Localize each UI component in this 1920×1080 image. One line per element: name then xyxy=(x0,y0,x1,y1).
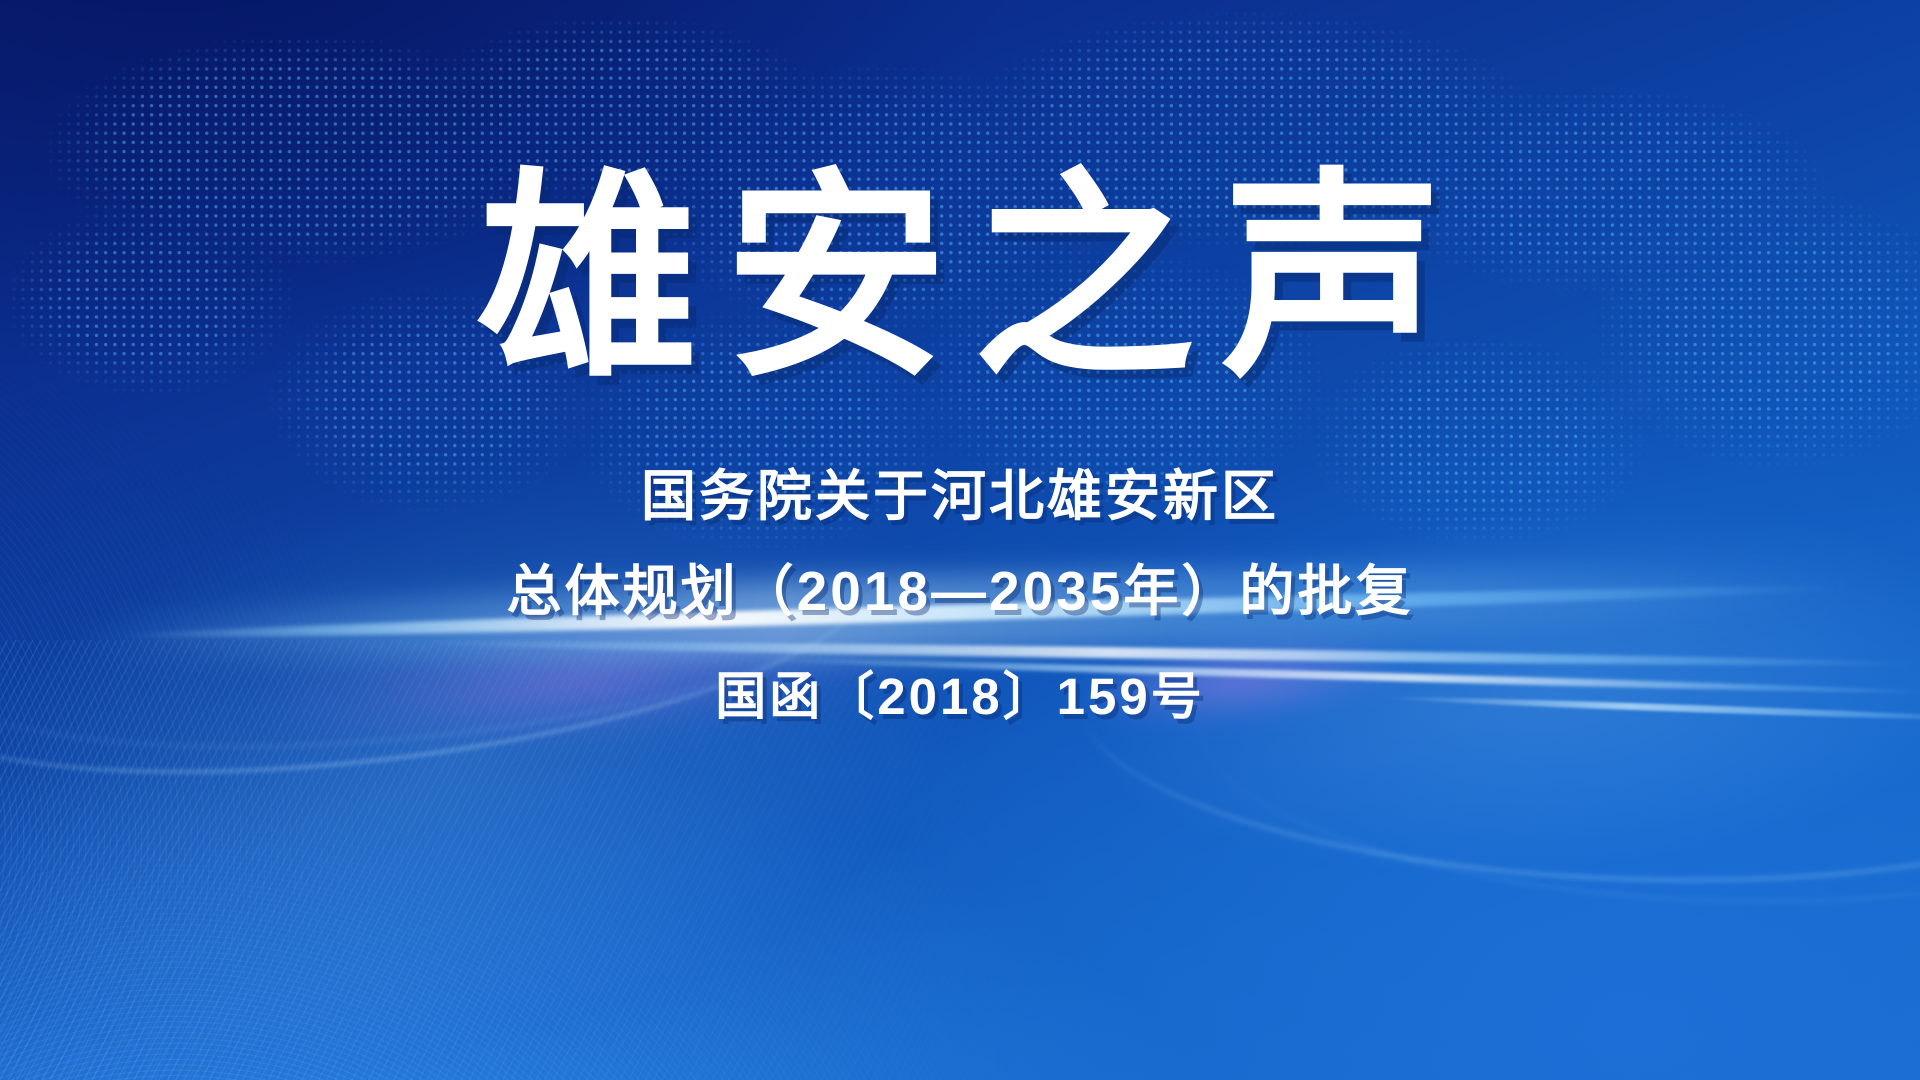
banner-stage: 雄安之声 国务院关于河北雄安新区 总体规划（2018—2035年）的批复 国函〔… xyxy=(0,0,1920,1080)
subtitle-line-2: 总体规划（2018—2035年）的批复 xyxy=(507,561,1414,622)
main-title: 雄安之声 xyxy=(451,168,1469,390)
banner-content: 雄安之声 国务院关于河北雄安新区 总体规划（2018—2035年）的批复 国函〔… xyxy=(0,0,1920,1080)
subtitle-group: 国务院关于河北雄安新区 总体规划（2018—2035年）的批复 xyxy=(507,466,1414,621)
subtitle-line-1: 国务院关于河北雄安新区 xyxy=(641,466,1279,527)
document-number: 国函〔2018〕159号 xyxy=(715,669,1205,725)
